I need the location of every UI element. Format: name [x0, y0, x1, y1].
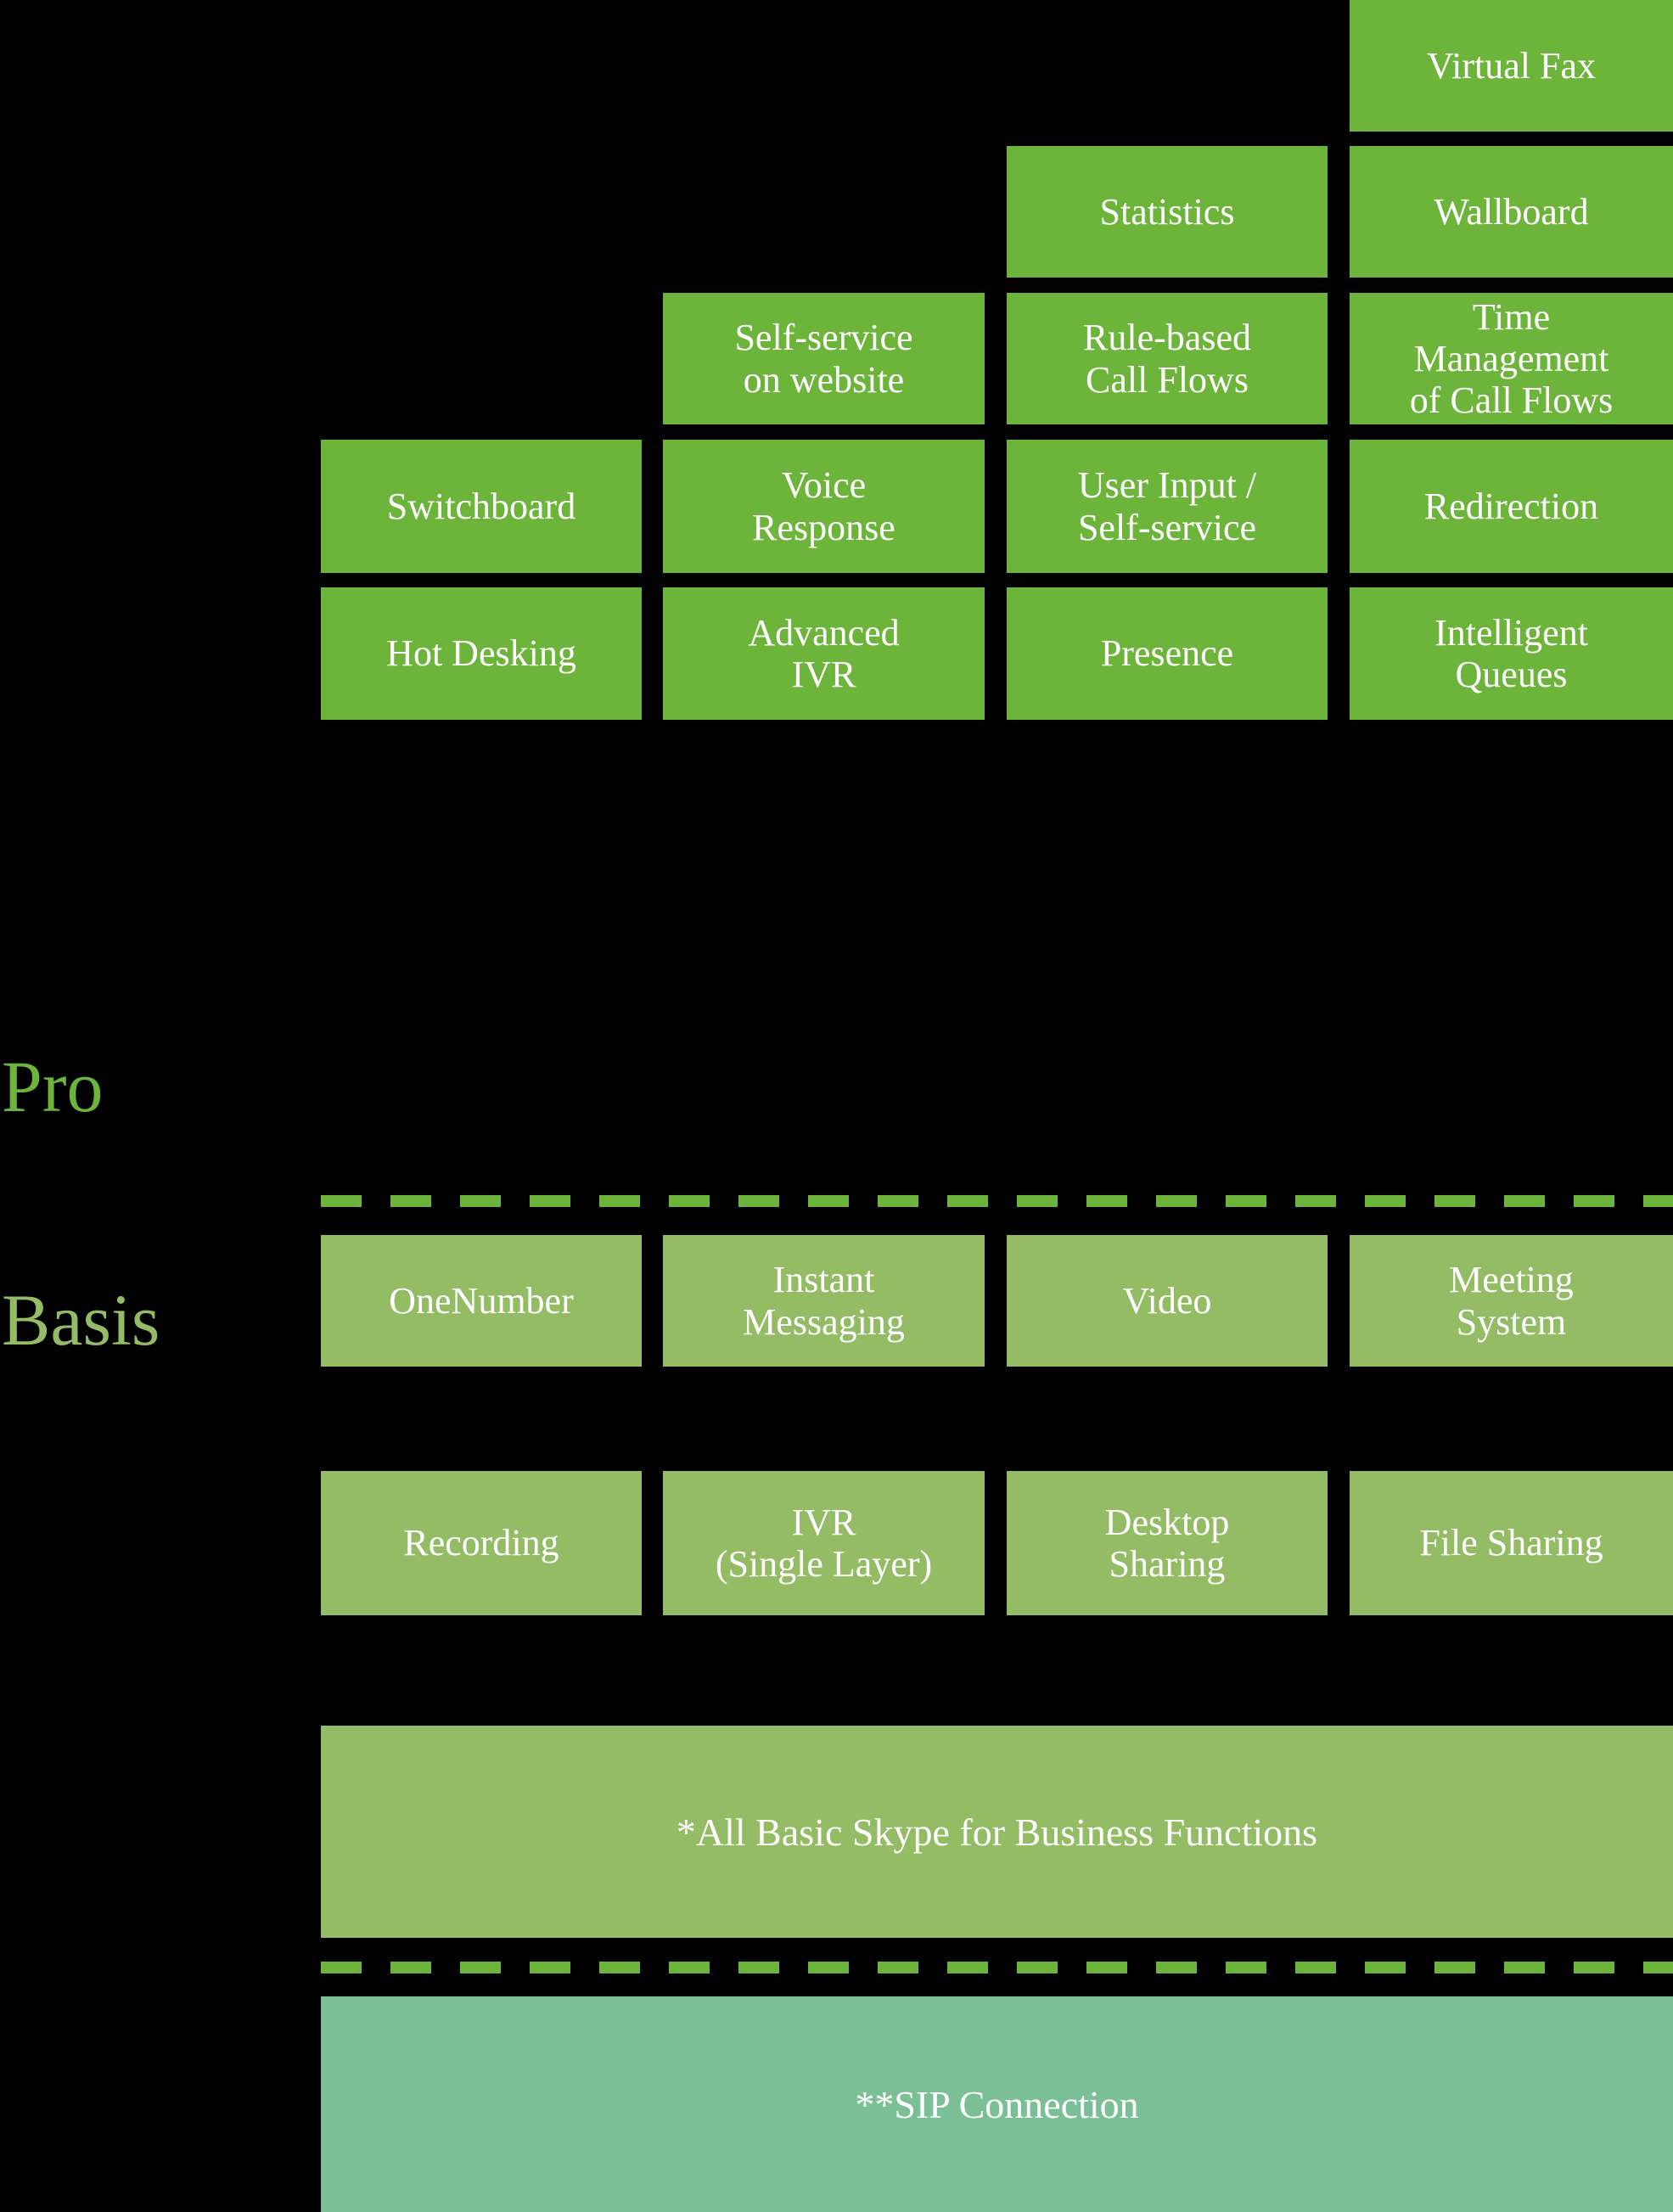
feature-label: Self-service on website — [734, 317, 912, 401]
feature-box-intelligent-queues[interactable]: Intelligent Queues — [1350, 587, 1673, 720]
tier-label-basis: Basis — [2, 1273, 282, 1367]
feature-box-self-service-on-website[interactable]: Self-service on website — [663, 293, 985, 424]
banner-sip-connection[interactable]: **SIP Connection — [321, 1996, 1673, 2212]
feature-box-hot-desking[interactable]: Hot Desking — [321, 587, 642, 720]
feature-label: Presence — [1101, 632, 1233, 674]
feature-label: Switchboard — [387, 486, 575, 527]
feature-box-desktop-sharing[interactable]: Desktop Sharing — [1007, 1471, 1328, 1615]
feature-label: Wallboard — [1434, 191, 1588, 233]
divider-pro-basis — [321, 1195, 1673, 1207]
feature-label: Meeting System — [1449, 1259, 1574, 1343]
feature-box-advanced-ivr[interactable]: Advanced IVR — [663, 587, 985, 720]
feature-label: Rule-based Call Flows — [1083, 317, 1251, 401]
feature-label: OneNumber — [389, 1280, 574, 1322]
feature-label: Hot Desking — [386, 632, 576, 674]
feature-label: Instant Messaging — [743, 1259, 905, 1343]
feature-label: Statistics — [1100, 191, 1235, 233]
feature-box-file-sharing[interactable]: File Sharing — [1350, 1471, 1673, 1615]
feature-label: Intelligent Queues — [1434, 612, 1588, 696]
feature-label: Virtual Fax — [1427, 45, 1596, 87]
feature-label: Video — [1123, 1280, 1212, 1322]
feature-box-presence[interactable]: Presence — [1007, 587, 1328, 720]
tier-label-text: Basis — [2, 1283, 160, 1356]
feature-box-virtual-fax[interactable]: Virtual Fax — [1350, 0, 1673, 132]
divider-basis-sip — [321, 1962, 1673, 1973]
feature-label: Time Management of Call Flows — [1410, 296, 1614, 422]
banner-label: *All Basic Skype for Business Functions — [676, 1810, 1317, 1855]
tier-label-pro: Pro — [2, 1040, 282, 1133]
feature-label: Redirection — [1424, 486, 1598, 527]
feature-box-onenumber[interactable]: OneNumber — [321, 1235, 642, 1367]
feature-label: Voice Response — [752, 464, 895, 548]
feature-label: IVR (Single Layer) — [716, 1502, 932, 1586]
feature-label: File Sharing — [1419, 1522, 1603, 1564]
feature-box-user-input-self-service[interactable]: User Input / Self-service — [1007, 440, 1328, 573]
feature-box-rule-based-call-flows[interactable]: Rule-based Call Flows — [1007, 293, 1328, 424]
feature-box-instant-messaging[interactable]: Instant Messaging — [663, 1235, 985, 1367]
feature-box-statistics[interactable]: Statistics — [1007, 146, 1328, 278]
feature-box-redirection[interactable]: Redirection — [1350, 440, 1673, 573]
feature-box-switchboard[interactable]: Switchboard — [321, 440, 642, 573]
feature-box-voice-response[interactable]: Voice Response — [663, 440, 985, 573]
tier-label-text: Pro — [2, 1050, 103, 1123]
feature-box-wallboard[interactable]: Wallboard — [1350, 146, 1673, 278]
banner-label: **SIP Connection — [855, 2082, 1138, 2127]
feature-label: Recording — [403, 1522, 559, 1564]
feature-box-ivr-single-layer[interactable]: IVR (Single Layer) — [663, 1471, 985, 1615]
feature-box-time-management-of-call-flows[interactable]: Time Management of Call Flows — [1350, 293, 1673, 424]
feature-label: Advanced IVR — [748, 612, 899, 696]
banner-all-basic-skype-functions[interactable]: *All Basic Skype for Business Functions — [321, 1726, 1673, 1938]
feature-box-recording[interactable]: Recording — [321, 1471, 642, 1615]
feature-label: Desktop Sharing — [1105, 1502, 1230, 1586]
feature-box-video[interactable]: Video — [1007, 1235, 1328, 1367]
feature-label: User Input / Self-service — [1078, 464, 1256, 548]
feature-box-meeting-system[interactable]: Meeting System — [1350, 1235, 1673, 1367]
capability-pyramid-diagram: Virtual Fax Statistics Wallboard Self-se… — [0, 0, 1673, 2212]
